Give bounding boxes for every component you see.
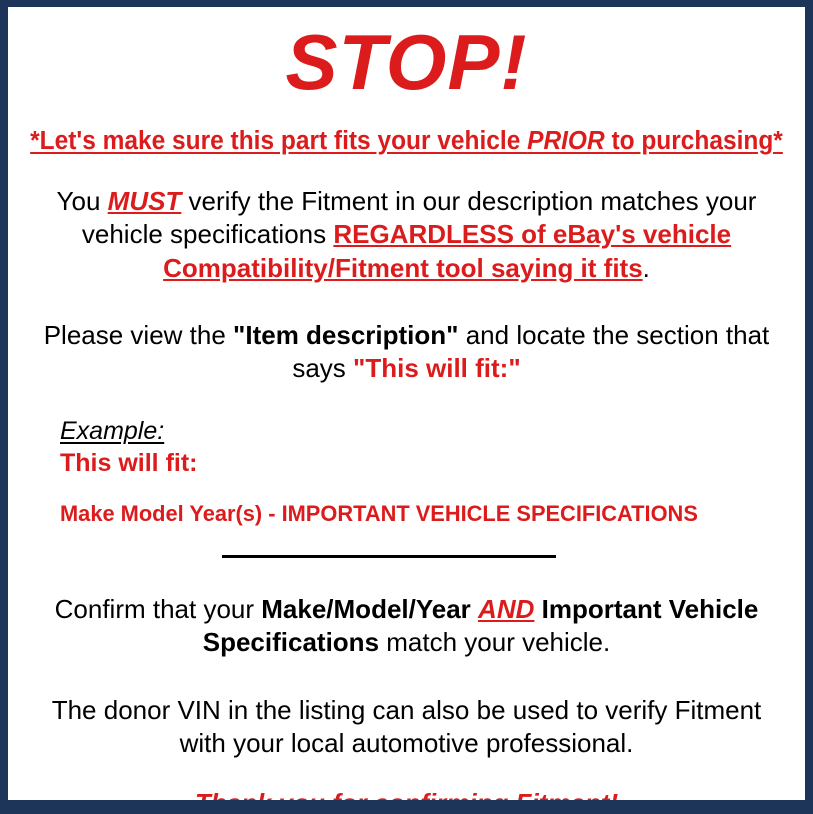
must-part1: You	[57, 186, 108, 216]
example-block: Example: This will fit: Make Model Year(…	[8, 417, 805, 527]
closing-message: Thank you for confirming Fitment!	[8, 788, 805, 800]
please-part1: Please view the	[44, 320, 233, 350]
must-part3: .	[643, 253, 650, 283]
this-will-fit-emphasis: "This will fit:"	[353, 353, 521, 383]
page-title: STOP!	[8, 23, 805, 101]
and-emphasis: AND	[478, 594, 534, 624]
paragraph-donor-vin: The donor VIN in the listing can also be…	[8, 694, 805, 761]
tagline: *Let's make sure this part fits your veh…	[24, 127, 789, 155]
example-fit-heading: This will fit:	[60, 448, 805, 478]
must-emphasis: MUST	[108, 186, 182, 216]
paragraph-must: You MUST verify the Fitment in our descr…	[8, 185, 805, 285]
confirm-part3	[534, 594, 541, 624]
divider-rule	[222, 555, 556, 558]
confirm-part4: match your vehicle.	[379, 627, 610, 657]
example-label: Example:	[60, 417, 805, 446]
tagline-emphasis: PRIOR	[527, 127, 605, 155]
fitment-notice-body: STOP! *Let's make sure this part fits yo…	[8, 7, 805, 800]
make-model-year-emphasis: Make/Model/Year	[261, 594, 471, 624]
paragraph-please-view: Please view the "Item description" and l…	[8, 319, 805, 386]
example-spec-line: Make Model Year(s) - IMPORTANT VEHICLE S…	[60, 500, 783, 527]
tagline-before: *Let's make sure this part fits your veh…	[30, 127, 527, 155]
confirm-part2	[471, 594, 478, 624]
fitment-notice-frame: STOP! *Let's make sure this part fits yo…	[0, 0, 813, 814]
section-divider	[8, 549, 805, 563]
tagline-after: to purchasing*	[605, 127, 783, 155]
paragraph-confirm: Confirm that your Make/Model/Year AND Im…	[8, 593, 805, 660]
confirm-part1: Confirm that your	[55, 594, 262, 624]
item-description-emphasis: "Item description"	[233, 320, 458, 350]
